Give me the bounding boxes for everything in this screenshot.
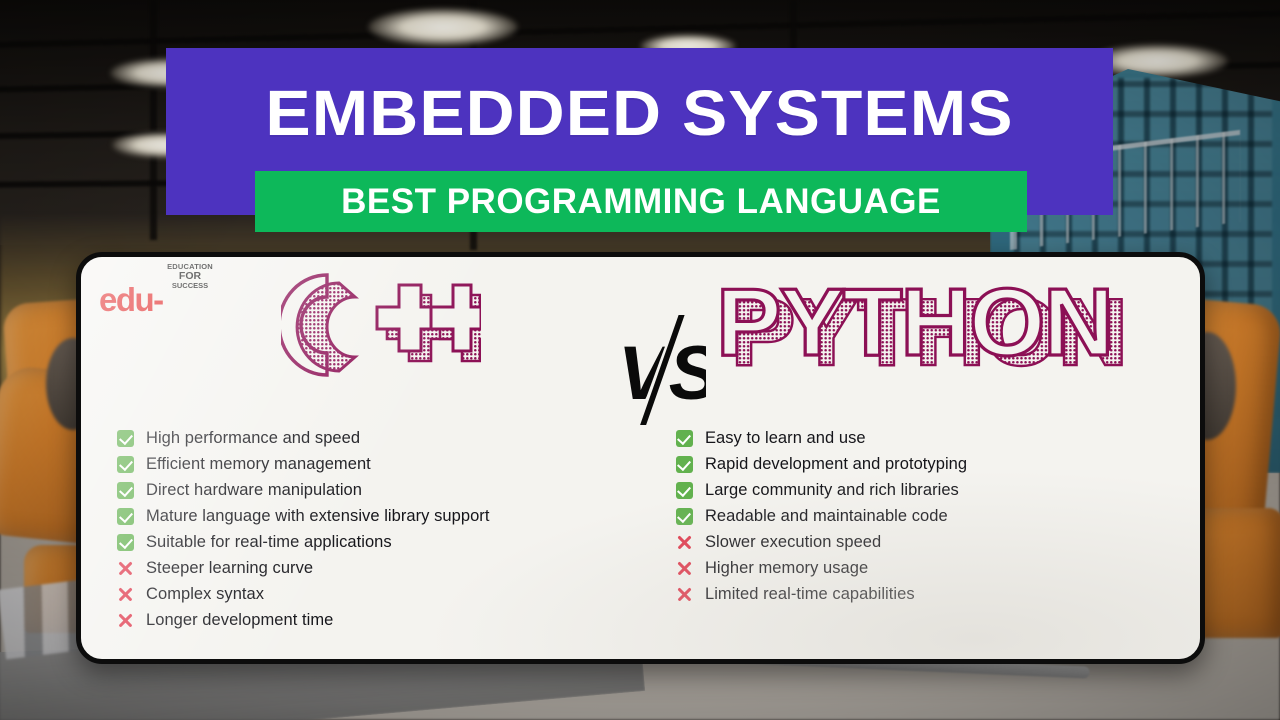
list-item-label: Mature language with extensive library s… xyxy=(146,507,489,526)
vs-divider: VS xyxy=(616,315,706,425)
svg-text:PYTHON: PYTHON xyxy=(716,269,1112,376)
list-item: Limited real-time capabilities xyxy=(674,581,1166,607)
brand-logos-row: VS PYTHON xyxy=(81,265,1200,415)
list-item: Longer development time xyxy=(115,607,626,633)
list-item: Suitable for real-time applications xyxy=(115,529,626,555)
list-item: Direct hardware manipulation xyxy=(115,477,626,503)
list-item: Steeper learning curve xyxy=(115,555,626,581)
slide-canvas: EMBEDDED SYSTEMS BEST PROGRAMMING LANGUA… xyxy=(0,0,1280,720)
cross-icon xyxy=(116,611,135,630)
cross-icon xyxy=(675,585,694,604)
list-item-label: Direct hardware manipulation xyxy=(146,481,362,500)
check-icon xyxy=(676,456,693,473)
check-icon xyxy=(117,456,134,473)
check-icon xyxy=(676,430,693,447)
cpp-feature-list: High performance and speedEfficient memo… xyxy=(115,425,626,633)
check-icon xyxy=(676,482,693,499)
list-item-label: Slower execution speed xyxy=(705,533,881,552)
list-item: Rapid development and prototyping xyxy=(674,451,1166,477)
list-item-label: Rapid development and prototyping xyxy=(705,455,967,474)
feature-lists: High performance and speedEfficient memo… xyxy=(81,425,1200,633)
subtitle-banner: BEST PROGRAMMING LANGUAGE xyxy=(255,171,1027,232)
list-item-label: Complex syntax xyxy=(146,585,264,604)
list-item: Large community and rich libraries xyxy=(674,477,1166,503)
page-subtitle: BEST PROGRAMMING LANGUAGE xyxy=(341,182,941,222)
list-item-label: Longer development time xyxy=(146,611,333,630)
list-item: Easy to learn and use xyxy=(674,425,1166,451)
comparison-card: edu- EDUCATION FOR SUCCESS xyxy=(76,252,1205,664)
check-icon xyxy=(117,482,134,499)
python-feature-list: Easy to learn and useRapid development a… xyxy=(674,425,1166,633)
list-item-label: Higher memory usage xyxy=(705,559,868,578)
check-icon xyxy=(117,430,134,447)
check-icon xyxy=(676,508,693,525)
python-logo: PYTHON PYTHON xyxy=(706,269,1126,383)
list-item-label: High performance and speed xyxy=(146,429,360,448)
list-item: Efficient memory management xyxy=(115,451,626,477)
cross-icon xyxy=(675,533,694,552)
list-item-label: Limited real-time capabilities xyxy=(705,585,915,604)
list-item-label: Steeper learning curve xyxy=(146,559,313,578)
list-item-label: Readable and maintainable code xyxy=(705,507,948,526)
list-item-label: Easy to learn and use xyxy=(705,429,866,448)
cross-icon xyxy=(675,559,694,578)
list-item: High performance and speed xyxy=(115,425,626,451)
cross-icon xyxy=(116,585,135,604)
list-item: Complex syntax xyxy=(115,581,626,607)
list-item: Higher memory usage xyxy=(674,555,1166,581)
list-item-label: Large community and rich libraries xyxy=(705,481,959,500)
list-item: Mature language with extensive library s… xyxy=(115,503,626,529)
check-icon xyxy=(117,534,134,551)
list-item: Readable and maintainable code xyxy=(674,503,1166,529)
list-item-label: Efficient memory management xyxy=(146,455,371,474)
check-icon xyxy=(117,508,134,525)
page-title: EMBEDDED SYSTEMS xyxy=(138,48,1142,178)
list-item-label: Suitable for real-time applications xyxy=(146,533,392,552)
cpp-logo xyxy=(281,271,481,383)
cross-icon xyxy=(116,559,135,578)
list-item: Slower execution speed xyxy=(674,529,1166,555)
